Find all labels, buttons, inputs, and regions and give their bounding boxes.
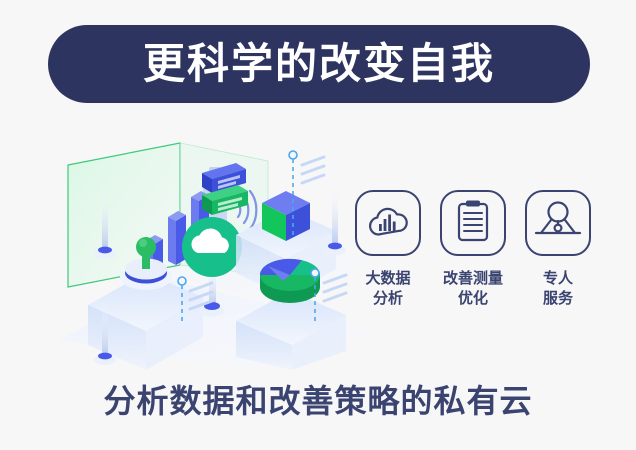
service-agent-icon bbox=[534, 200, 582, 247]
feature-list: 大数据 分析 改善测量 优化 bbox=[352, 190, 594, 310]
feature-badge bbox=[440, 190, 506, 256]
illustration-scene bbox=[40, 125, 370, 370]
feature-label: 改善测量 优化 bbox=[443, 269, 503, 310]
feature-label: 专人 服务 bbox=[543, 269, 573, 310]
feature-big-data-analysis[interactable]: 大数据 分析 bbox=[352, 190, 424, 310]
footer-tagline: 分析数据和改善策略的私有云 bbox=[0, 385, 636, 417]
title-banner: 更科学的改变自我 bbox=[48, 25, 590, 103]
isometric-pie-chart bbox=[260, 259, 320, 303]
feature-label: 大数据 分析 bbox=[365, 269, 410, 310]
poster-canvas: 更科学的改变自我 bbox=[0, 0, 636, 450]
feature-badge bbox=[525, 190, 591, 256]
page-title: 更科学的改变自我 bbox=[143, 43, 495, 85]
feature-badge bbox=[355, 190, 421, 256]
cloud-bar-chart-icon bbox=[366, 203, 410, 244]
feature-improvement-measurement[interactable]: 改善测量 优化 bbox=[437, 190, 509, 310]
feature-dedicated-service[interactable]: 专人 服务 bbox=[522, 190, 594, 310]
clipboard-icon bbox=[454, 199, 492, 248]
